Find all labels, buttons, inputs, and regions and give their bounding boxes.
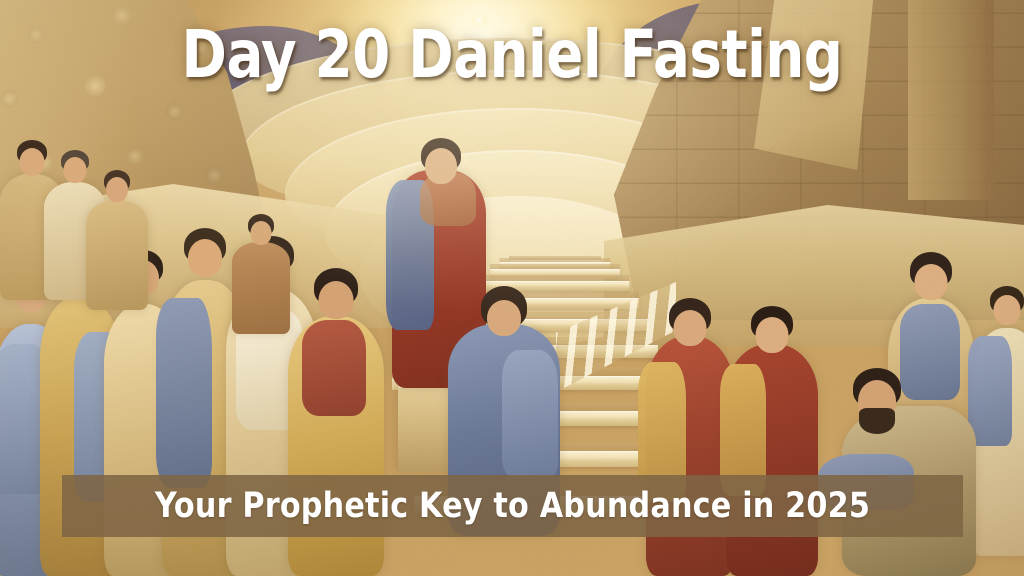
subtitle-text: Your Prophetic Key to Abundance in 2025 bbox=[155, 486, 870, 526]
poster-image: Day 20 Daniel Fasting Your Prophetic Key… bbox=[0, 0, 1024, 576]
page-title: Day 20 Daniel Fasting bbox=[41, 22, 983, 88]
seated-bearded-man bbox=[826, 368, 976, 576]
crowd-left-figure-upper-3 bbox=[86, 170, 148, 310]
crowd-right-figure-4 bbox=[972, 286, 1024, 556]
crowd-left-figure-upper-4 bbox=[232, 214, 290, 334]
subtitle-banner: Your Prophetic Key to Abundance in 2025 bbox=[62, 475, 963, 537]
